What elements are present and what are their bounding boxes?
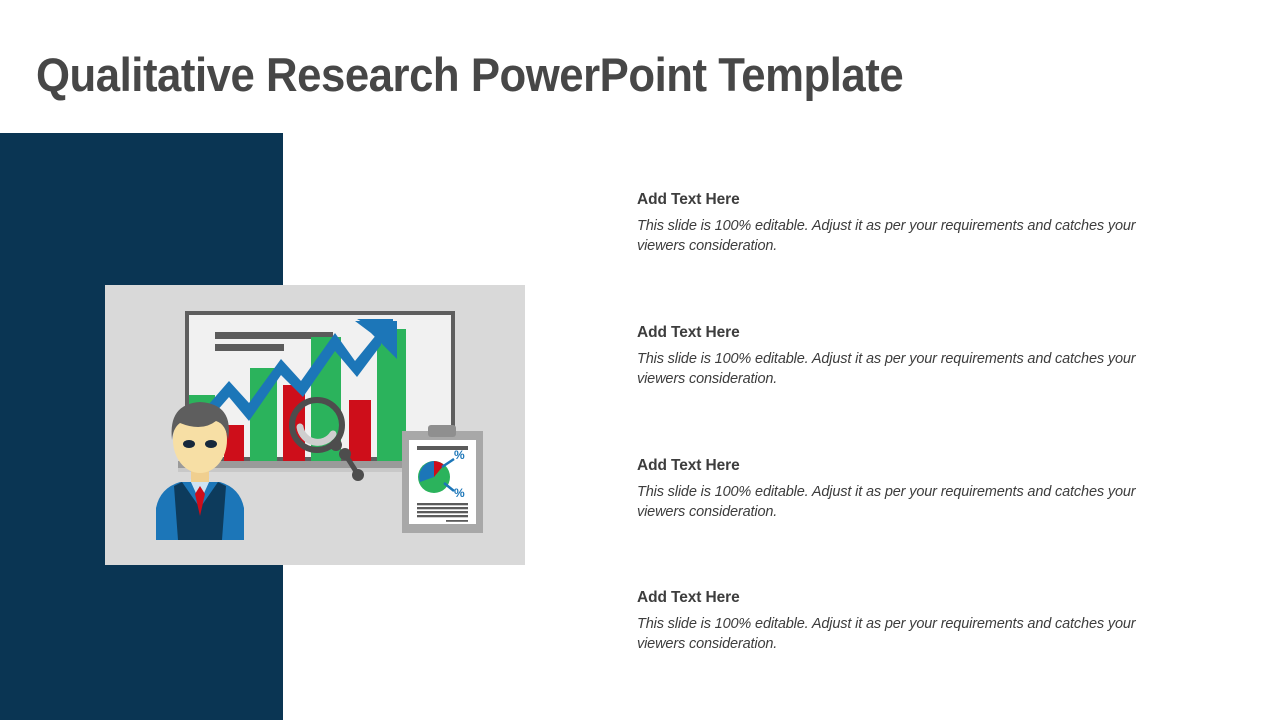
illustration-stage: % % [105,285,525,565]
content-block-body: This slide is 100% editable. Adjust it a… [637,615,1149,654]
content-block-heading: Add Text Here [637,191,1152,209]
clipboard-percent-label-1: % [454,448,465,462]
page-title: Qualitative Research PowerPoint Template [36,44,903,106]
content-block-3: Add Text Here This slide is 100% editabl… [637,457,1152,522]
content-block-4: Add Text Here This slide is 100% editabl… [637,589,1152,654]
slide-canvas: Qualitative Research PowerPoint Template [0,0,1280,720]
clipboard-percent-label-2: % [454,486,465,500]
illustration-card: % % [105,285,525,565]
content-block-heading: Add Text Here [637,457,1152,475]
content-block-1: Add Text Here This slide is 100% editabl… [637,191,1152,256]
businessman-avatar [150,390,250,540]
content-block-2: Add Text Here This slide is 100% editabl… [637,324,1152,389]
content-block-body: This slide is 100% editable. Adjust it a… [637,350,1149,389]
content-block-body: This slide is 100% editable. Adjust it a… [637,217,1149,256]
clipboard-report-icon: % % [400,423,485,535]
content-block-heading: Add Text Here [637,324,1152,342]
content-block-heading: Add Text Here [637,589,1152,607]
magnifying-glass-icon [287,397,367,487]
content-block-body: This slide is 100% editable. Adjust it a… [637,483,1149,522]
